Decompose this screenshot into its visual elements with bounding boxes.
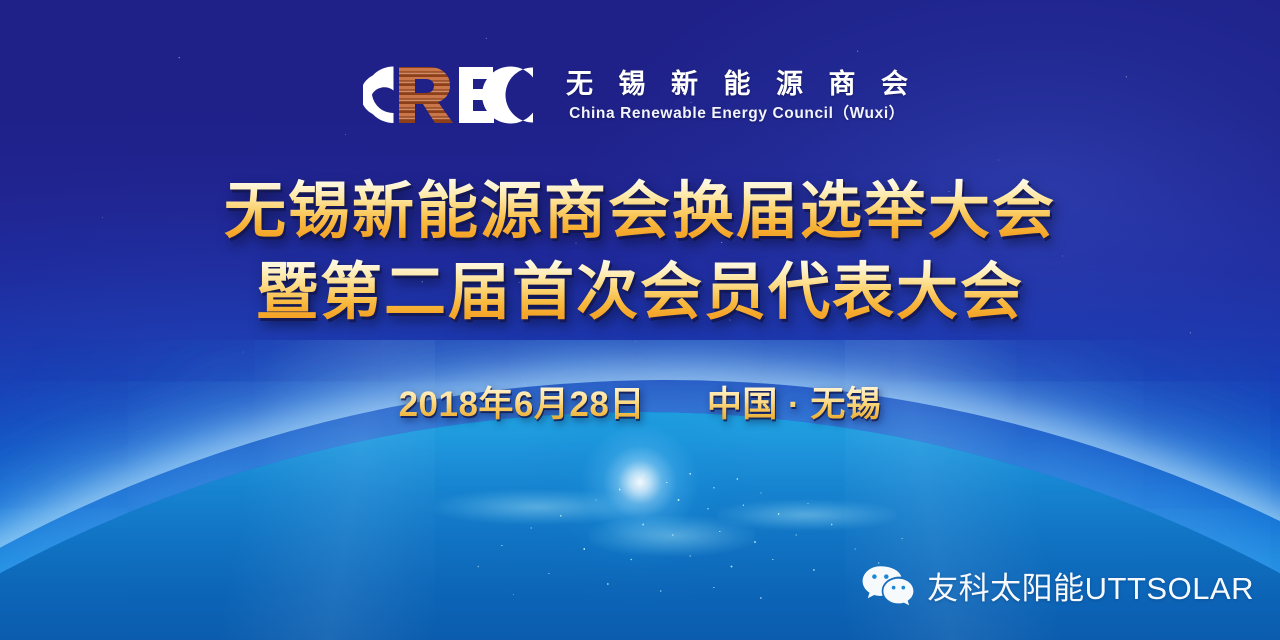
org-name-cn: 无 锡 新 能 源 商 会 (557, 69, 917, 101)
event-date: 2018年6月28日 (399, 376, 645, 427)
event-title-line-2: 暨第二届首次会员代表大会 (0, 253, 1280, 334)
letter-r-striped (393, 65, 459, 125)
poster-canvas: 无 锡 新 能 源 商 会 China Renewable Energy Cou… (0, 0, 1280, 640)
wechat-watermark: 友科太阳能UTTSOLAR (861, 563, 1254, 608)
letter-c-left-ring (365, 67, 394, 124)
wechat-icon (861, 564, 915, 608)
event-title-line-1: 无锡新能源商会换届选举大会 (0, 172, 1280, 253)
org-name-en: China Renewable Energy Council（Wuxi） (569, 105, 905, 124)
logo-block: 无 锡 新 能 源 商 会 China Renewable Energy Cou… (0, 66, 1280, 124)
crec-logomark (363, 66, 535, 124)
wechat-account-name: 友科太阳能UTTSOLAR (927, 563, 1254, 608)
event-meta: 2018年6月28日 中国 · 无锡 (0, 376, 1280, 427)
org-names: 无 锡 新 能 源 商 会 China Renewable Energy Cou… (557, 67, 917, 123)
event-location: 中国 · 无锡 (707, 376, 882, 427)
crec-letters-icon (363, 65, 535, 125)
event-title: 无锡新能源商会换届选举大会 暨第二届首次会员代表大会 (0, 172, 1280, 333)
